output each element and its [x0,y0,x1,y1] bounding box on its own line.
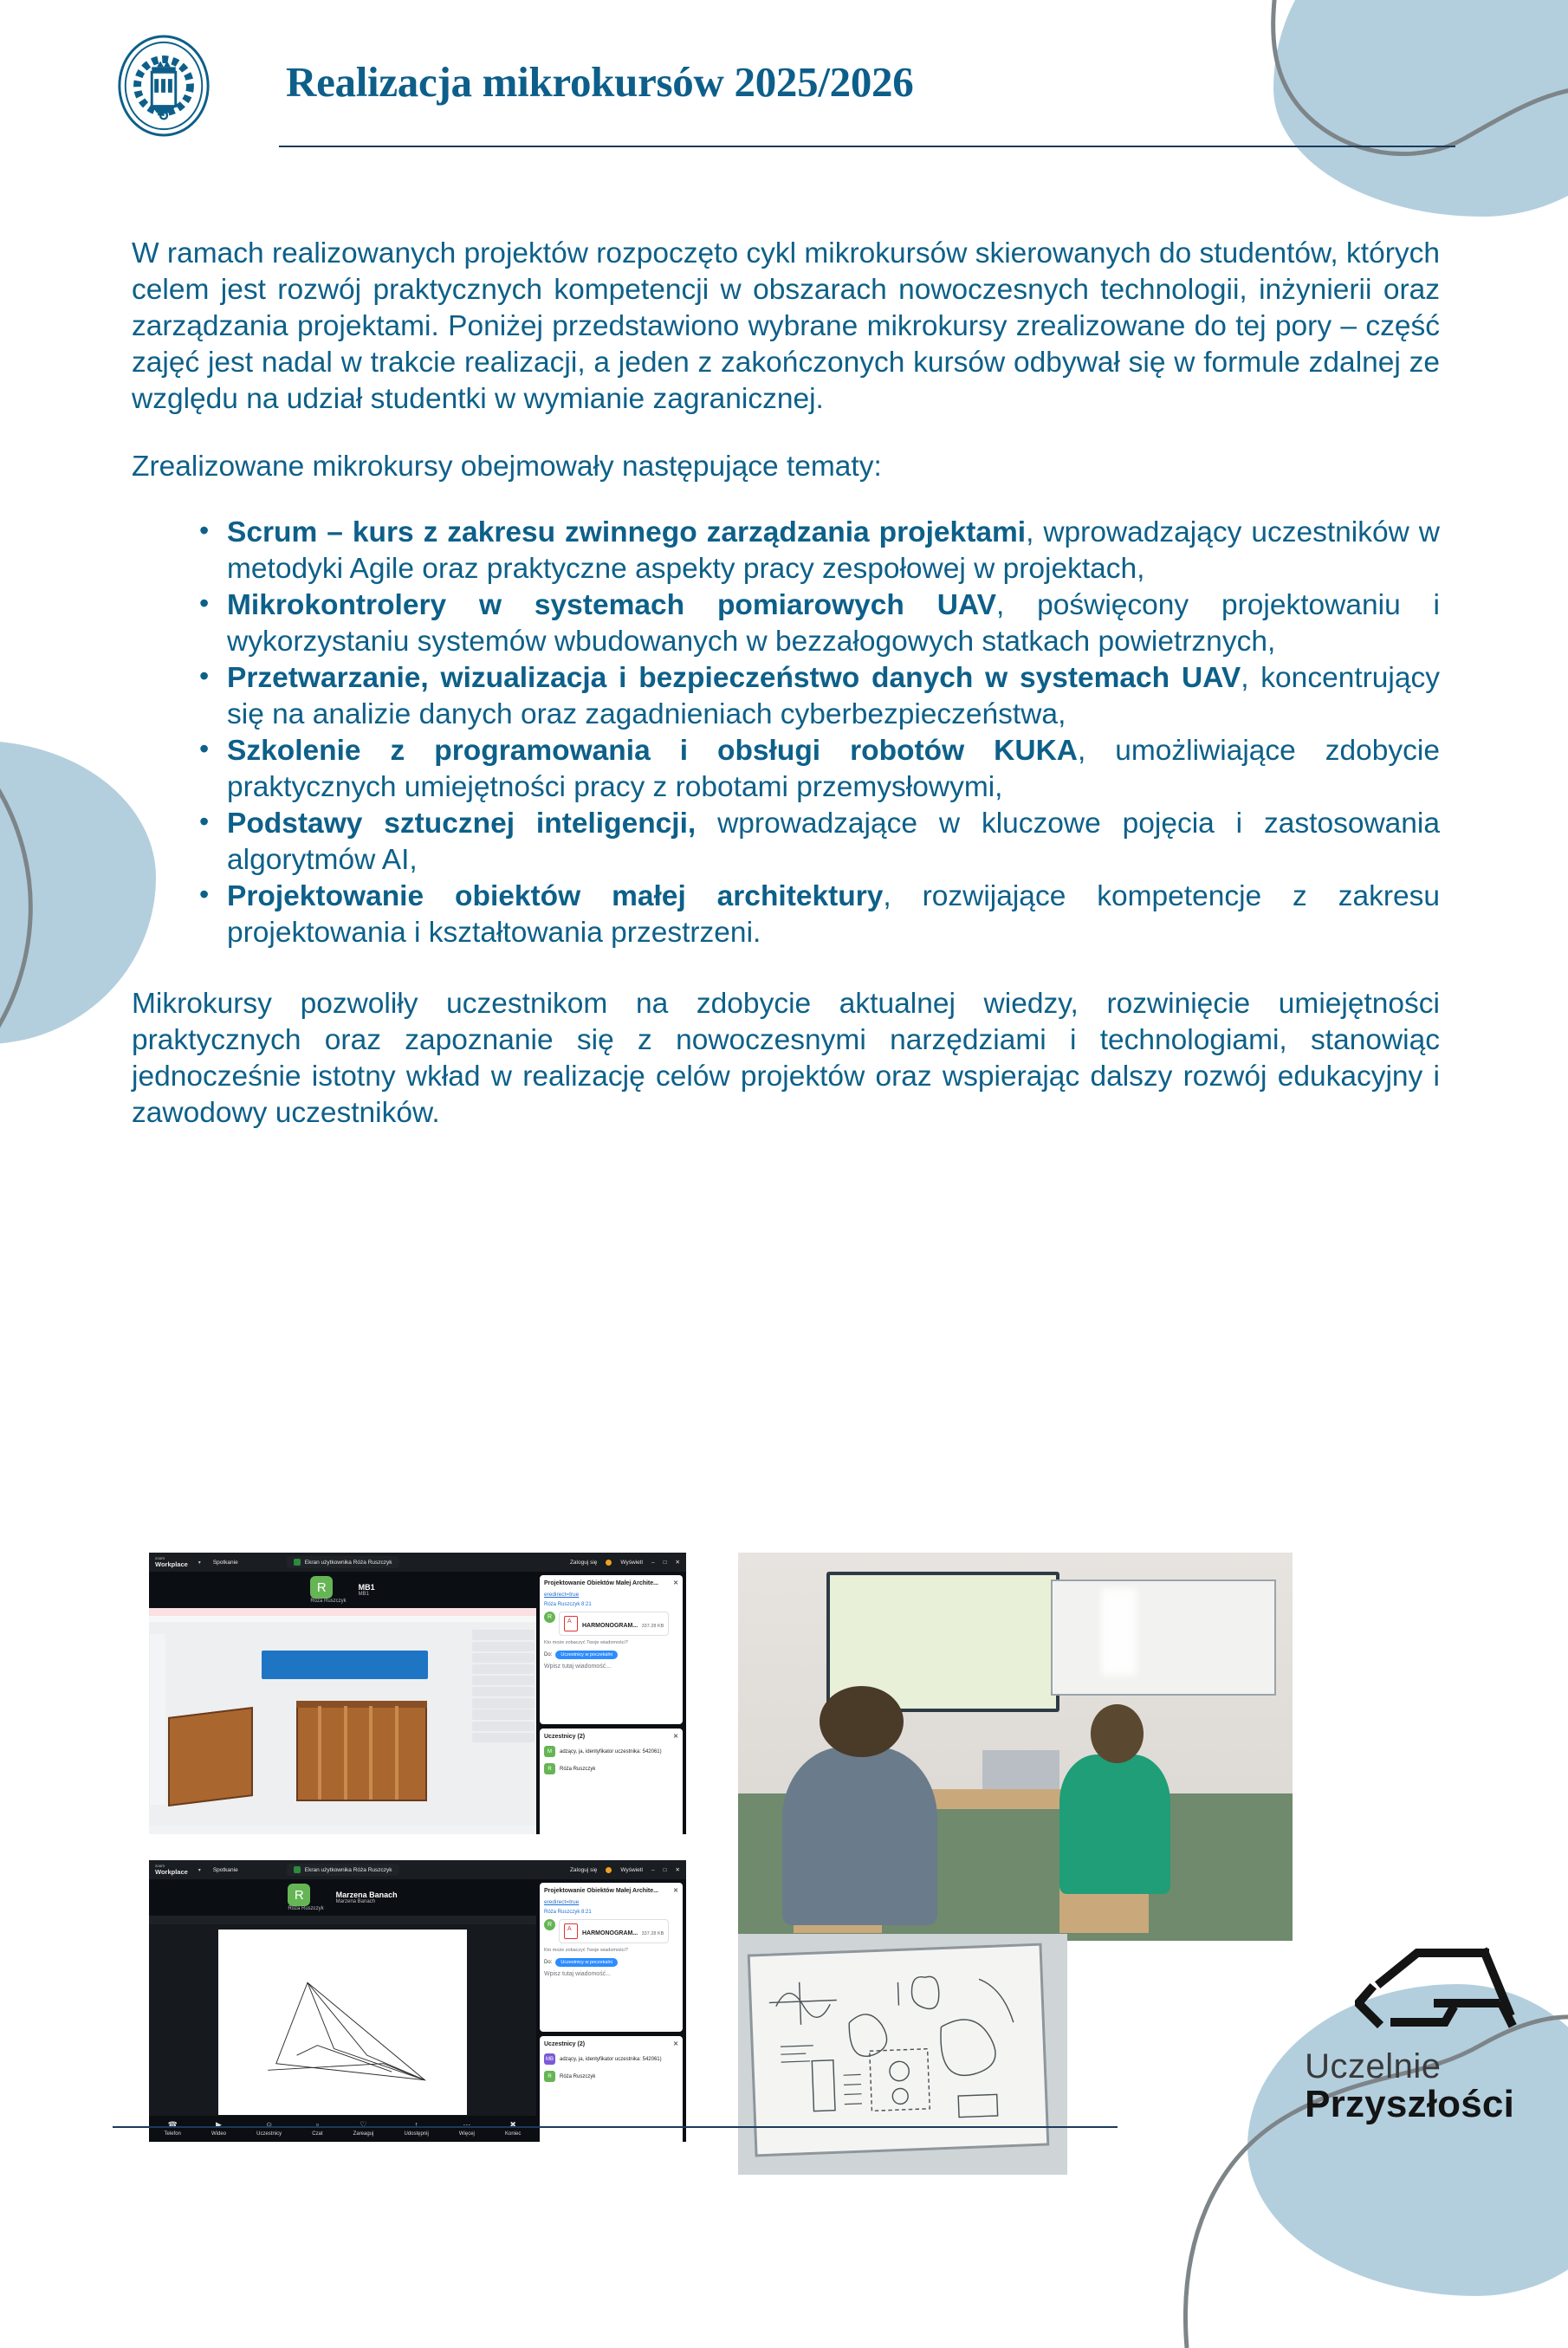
zoom-window-controls: Zaloguj się Wyświetl – □ ✕ [570,1559,680,1566]
zoom-titlebar: zoom Workplace ▾ Spotkanie Ekran użytkow… [149,1860,686,1879]
shared-image-viewer [149,1916,536,2142]
image-gallery: zoom Workplace ▾ Spotkanie Ekran użytkow… [149,1553,1422,2175]
toolbar-video-button[interactable]: ▶Wideo [211,2119,226,2139]
minimize-icon[interactable]: – [651,1560,655,1566]
header-divider [279,146,1455,147]
photo-whiteboard [738,1934,1067,2175]
zoom-share-tab[interactable]: Ekran użytkownika Róża Ruszczyk [287,1864,399,1876]
participant-row: R Róża Ruszczyk [544,1763,678,1774]
chat-sender: Róża Ruszczyk [544,1602,580,1607]
speaker-name: MB1 [359,1583,375,1592]
chat-panel-title: Projektowanie Obiektów Małej Archite... … [544,1579,678,1586]
chat-link[interactable]: eredirect=true [544,1899,678,1905]
list-item: Mikrokontrolery w systemach pomiarowych … [198,587,1440,660]
end-call-icon: ✖ [505,2119,521,2131]
zoom-active-speaker: R Róża Ruszczyk Marzena Banach Marzena B… [149,1879,536,1916]
pdf-file-icon [564,1923,578,1939]
pdf-file-icon [564,1616,578,1631]
close-icon[interactable]: ✕ [676,1559,680,1566]
chat-recipient-select[interactable]: Uczestnicy w poczekalni [555,1958,618,1967]
maximize-icon[interactable]: □ [664,1560,667,1566]
zoom-view-button[interactable]: Wyświetl [620,1867,643,1873]
toolbar-end-button[interactable]: ✖Koniec [505,2119,521,2139]
list-item: Przetwarzanie, wizualizacja i bezpieczeń… [198,660,1440,733]
laptop [982,1750,1060,1789]
sketch-image [218,1930,466,2115]
avatar: R [288,1884,310,1906]
chat-panel-title: Projektowanie Obiektów Małej Archite... … [544,1887,678,1894]
sketchup-toolbar-left [150,1634,165,1805]
maximize-icon[interactable]: □ [664,1867,667,1873]
course-title: Scrum – kurs z zakresu zwinnego zarządza… [227,516,1026,548]
list-lead-in: Zrealizowane mikrokursy obejmowały nastę… [132,449,1440,485]
toolbar-share-button[interactable]: ↑Udostępnij [404,2119,428,2139]
close-icon[interactable]: ✕ [673,1733,678,1740]
participant-row: MB adzący, ja, identyfikator uczestnika:… [544,2053,678,2065]
chat-link[interactable]: eredirect=true [544,1592,678,1598]
zoom-menu-meeting[interactable]: Spotkanie [213,1867,238,1873]
zoom-side-panels: Projektowanie Obiektów Małej Archite... … [536,1572,686,1834]
whiteboard-notes-icon [750,1945,1047,2154]
ellipsis-icon: ⋯ [459,2119,475,2131]
document-body: W ramach realizowanych projektów rozpocz… [132,236,1440,1132]
share-screen-icon: ↑ [404,2119,428,2131]
avatar: R [544,1763,555,1774]
list-item: Podstawy sztucznej inteligencji, wprowad… [198,806,1440,879]
phone-icon: ☎ [165,2119,181,2131]
people-icon: ☺ [256,2119,282,2131]
speaker-name: Marzena Banach [336,1891,398,1899]
chat-file-size: 337.28 KB [642,1624,664,1629]
chat-sender: Róża Ruszczyk [544,1910,580,1915]
close-icon[interactable]: ✕ [673,2040,678,2047]
university-crest-logo [113,35,215,137]
sketchup-promo-banner [262,1651,428,1679]
chat-file-card[interactable]: HARMONOGRAM... 337.28 KB [559,1612,669,1636]
sketch-lines-icon [218,1930,466,2115]
avatar: R [544,2071,555,2082]
graduation-cap-icon [1355,1941,1519,2045]
chat-privacy-note: Kto może zobaczyć Twoje wiadomości? [544,1948,678,1953]
course-title: Szkolenie z programowania i obsługi robo… [227,735,1078,767]
zoom-stage: R Róża Ruszczyk MB1 MB1 [149,1572,536,1834]
zoom-window-controls: Zaloguj się Wyświetl – □ ✕ [570,1866,680,1873]
heart-icon: ♡ [353,2119,374,2131]
browser-bookmarks [149,1616,536,1622]
photo-classroom [738,1553,1293,1941]
list-item: Projektowanie obiektów małej architektur… [198,879,1440,951]
closing-paragraph: Mikrokursy pozwoliły uczestnikom na zdob… [132,986,1440,1132]
course-title: Mikrokontrolery w systemach pomiarowych … [227,589,996,621]
status-dot-icon [606,1560,612,1566]
zoom-participants-panel: Uczestnicy (2) ✕ M adzący, ja, identyfik… [540,1729,683,1834]
intro-paragraph: W ramach realizowanych projektów rozpocz… [132,236,1440,418]
chat-privacy-note: Kto może zobaczyć Twoje wiadomości? [544,1640,678,1645]
zoom-chat-panel: Projektowanie Obiektów Małej Archite... … [540,1575,683,1724]
participants-panel-title: Uczestnicy (2) ✕ [544,1733,678,1740]
zoom-stage: R Róża Ruszczyk Marzena Banach Marzena B… [149,1879,536,2142]
model-shelter [296,1704,428,1801]
brand-line-1: Uczelnie [1305,2049,1514,2085]
chat-recipient-row: Do: Uczestnicy w poczekalni [544,1651,678,1659]
shared-sketchup-window [149,1608,536,1834]
chevron-down-icon[interactable]: ▾ [198,1867,201,1873]
participant-name: Róża Ruszczyk [560,2074,595,2079]
participant-name: Róża Ruszczyk [560,1767,595,1772]
participant-row: R Róża Ruszczyk [544,2071,678,2082]
zoom-share-tab[interactable]: Ekran użytkownika Róża Ruszczyk [287,1556,399,1568]
close-icon[interactable]: ✕ [676,1866,680,1873]
zoom-chat-panel: Projektowanie Obiektów Małej Archite... … [540,1883,683,2032]
toolbar-participants-button[interactable]: ☺Uczestnicy [256,2119,282,2139]
sketchup-canvas [149,1622,536,1826]
avatar: MB [544,2053,555,2065]
chat-input[interactable]: Wpisz tutaj wiadomość... [544,1971,678,1977]
student-seated-left [782,1747,937,1925]
participant-name: adzący, ja, identyfikator uczestnika: 54… [560,2057,662,2062]
chat-file-name: HARMONOGRAM... [582,1623,638,1629]
brand-line-2: Przyszłości [1305,2085,1514,2124]
chevron-down-icon[interactable]: ▾ [198,1560,201,1566]
toolbar-more-button[interactable]: ⋯Więcej [459,2119,475,2139]
avatar: R [544,1612,555,1623]
participants-panel-title: Uczestnicy (2) ✕ [544,2040,678,2047]
close-icon[interactable]: ✕ [673,1579,678,1586]
whiteboard-surface [748,1943,1050,2157]
brand-uczelnie-przyszlosci: Uczelnie Przyszłości [1305,2049,1514,2124]
chat-recipient-select[interactable]: Uczestnicy w poczekalni [555,1651,618,1659]
zoom-brand: zoom Workplace [155,1865,188,1875]
close-icon[interactable]: ✕ [673,1887,678,1894]
speaker-sublabel: Róża Ruszczyk [288,1906,323,1911]
avatar: R [310,1576,333,1599]
zoom-login-button[interactable]: Zaloguj się [570,1867,597,1873]
page-title: Realizacja mikrokursów 2025/2026 [286,57,913,107]
whiteboard [1051,1579,1276,1696]
course-list: Scrum – kurs z zakresu zwinnego zarządza… [132,515,1440,951]
course-title: Przetwarzanie, wizualizacja i bezpieczeń… [227,662,1241,694]
chat-file-size: 337.28 KB [642,1931,664,1936]
zoom-side-panels: Projektowanie Obiektów Małej Archite... … [536,1879,686,2142]
chat-to-label: Do: [544,1960,552,1965]
zoom-login-button[interactable]: Zaloguj się [570,1560,597,1566]
speaker-name-sub: Marzena Banach [336,1899,398,1904]
avatar: M [544,1746,555,1757]
toolbar-react-button[interactable]: ♡Zareaguj [353,2119,374,2139]
zoom-menu-meeting[interactable]: Spotkanie [213,1560,238,1566]
chat-file-name: HARMONOGRAM... [582,1930,638,1936]
list-item: Szkolenie z programowania i obsługi robo… [198,733,1440,806]
model-gate-panel [168,1707,253,1806]
zoom-view-button[interactable]: Wyświetl [620,1560,643,1566]
zoom-meeting-toolbar: ☎Telefon ▶Wideo ☺Uczestnicy ▫Czat ♡Zarea… [149,2116,536,2142]
page-header: Realizacja mikrokursów 2025/2026 [113,35,1455,160]
speaker-sublabel: Róża Ruszczyk [310,1599,346,1604]
course-title: Podstawy sztucznej inteligencji, [227,808,696,840]
chat-input[interactable]: Wpisz tutaj wiadomość... [544,1664,678,1670]
chat-time: 8:21 [581,1602,592,1607]
chat-to-label: Do: [544,1652,552,1657]
student-seated-right [1059,1755,1170,1894]
chat-message: R HARMONOGRAM... 337.28 KB [544,1919,678,1943]
zoom-brand: zoom Workplace [155,1557,188,1567]
browser-tabstrip [149,1608,536,1616]
screenshot-zoom-sketchup: zoom Workplace ▾ Spotkanie Ekran użytkow… [149,1553,686,1834]
footer-divider [113,2126,1118,2128]
speaker-name-sub: MB1 [359,1592,375,1597]
screenshot-zoom-sketch: zoom Workplace ▾ Spotkanie Ekran użytkow… [149,1860,686,2142]
list-item: Scrum – kurs z zakresu zwinnego zarządza… [198,515,1440,587]
chat-message: R HARMONOGRAM... 337.28 KB [544,1612,678,1636]
avatar: R [544,1919,555,1930]
video-camera-icon: ▶ [211,2119,226,2131]
status-dot-icon [606,1867,612,1873]
share-indicator-icon [294,1559,301,1566]
course-title: Projektowanie obiektów małej architektur… [227,880,883,912]
zoom-titlebar: zoom Workplace ▾ Spotkanie Ekran użytkow… [149,1553,686,1572]
chat-file-card[interactable]: HARMONOGRAM... 337.28 KB [559,1919,669,1943]
participant-row: M adzący, ja, identyfikator uczestnika: … [544,1746,678,1757]
zoom-active-speaker: R Róża Ruszczyk MB1 MB1 [149,1572,536,1608]
sketchup-panel-tray [472,1630,535,1809]
toolbar-chat-button[interactable]: ▫Czat [312,2119,322,2139]
chat-recipient-row: Do: Uczestnicy w poczekalni [544,1958,678,1967]
toolbar-phone-button[interactable]: ☎Telefon [165,2119,181,2139]
share-indicator-icon [294,1866,301,1873]
chat-time: 8:21 [581,1910,592,1915]
minimize-icon[interactable]: – [651,1867,655,1873]
chat-bubble-icon: ▫ [312,2119,322,2131]
participant-name: adzący, ja, identyfikator uczestnika: 54… [560,1749,662,1755]
